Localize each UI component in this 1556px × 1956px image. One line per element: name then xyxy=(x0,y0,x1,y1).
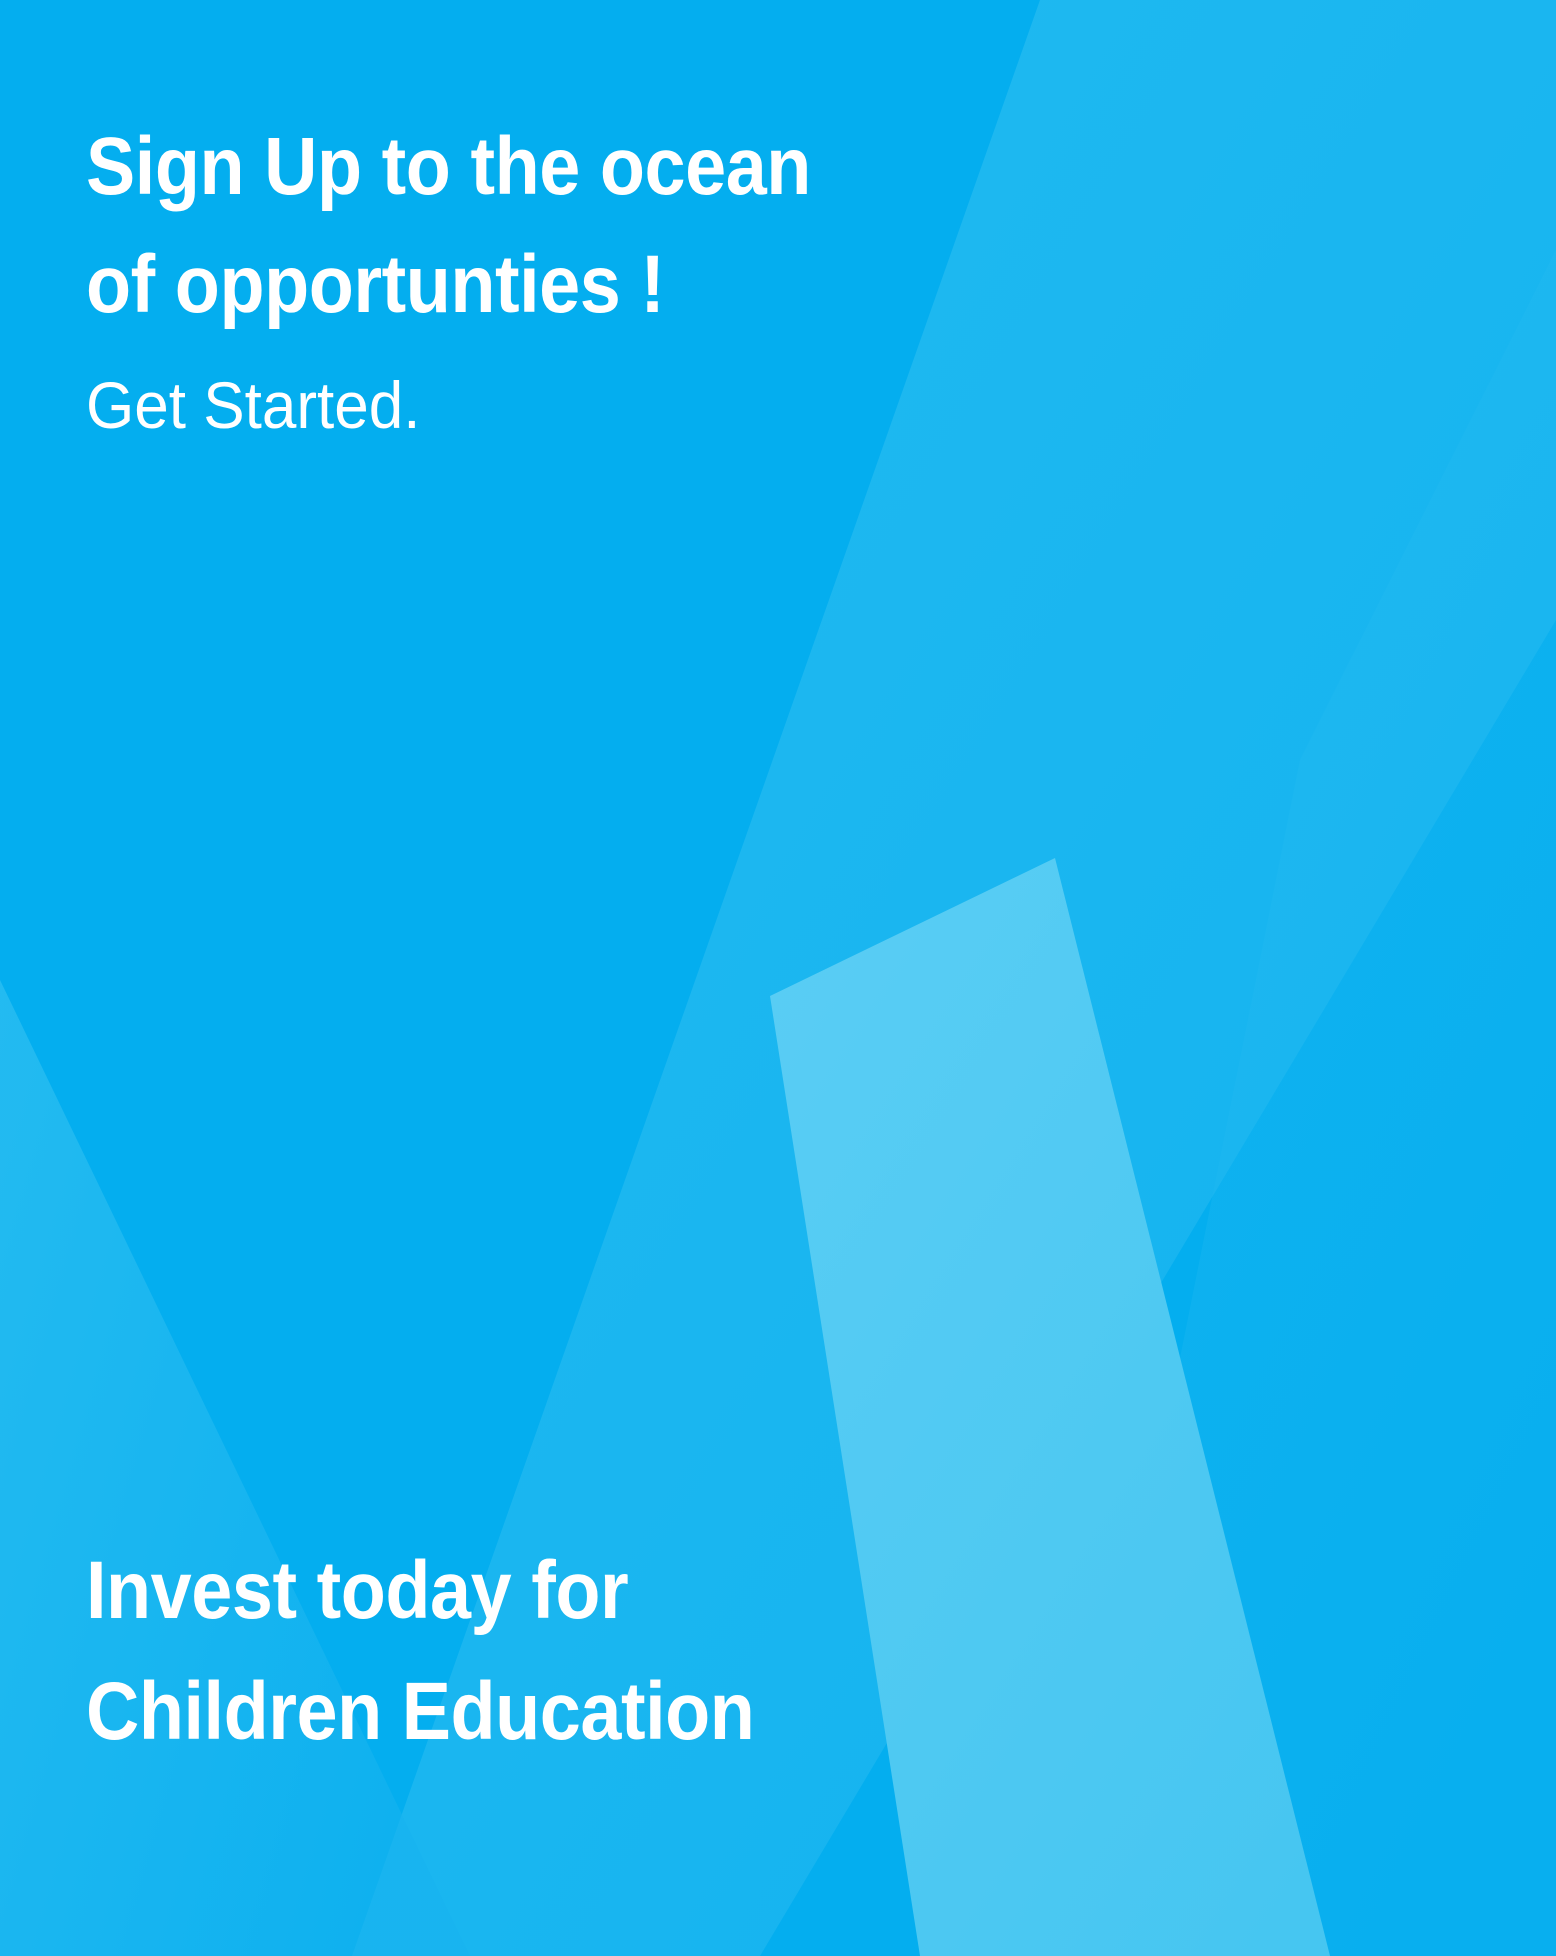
hero-subheadline: Get Started. xyxy=(86,344,1026,447)
footer-headline: Invest today for Children Education xyxy=(86,1530,1076,1773)
banner-content: Sign Up to the ocean of opportunties ! G… xyxy=(0,0,1556,1956)
hero-headline: Sign Up to the ocean of opportunties ! xyxy=(86,108,986,344)
signup-banner: Sign Up to the ocean of opportunties ! G… xyxy=(0,0,1556,1956)
footer-text-block: Invest today for Children Education xyxy=(86,1530,1186,1773)
hero-text-block: Sign Up to the ocean of opportunties ! G… xyxy=(86,108,1086,447)
